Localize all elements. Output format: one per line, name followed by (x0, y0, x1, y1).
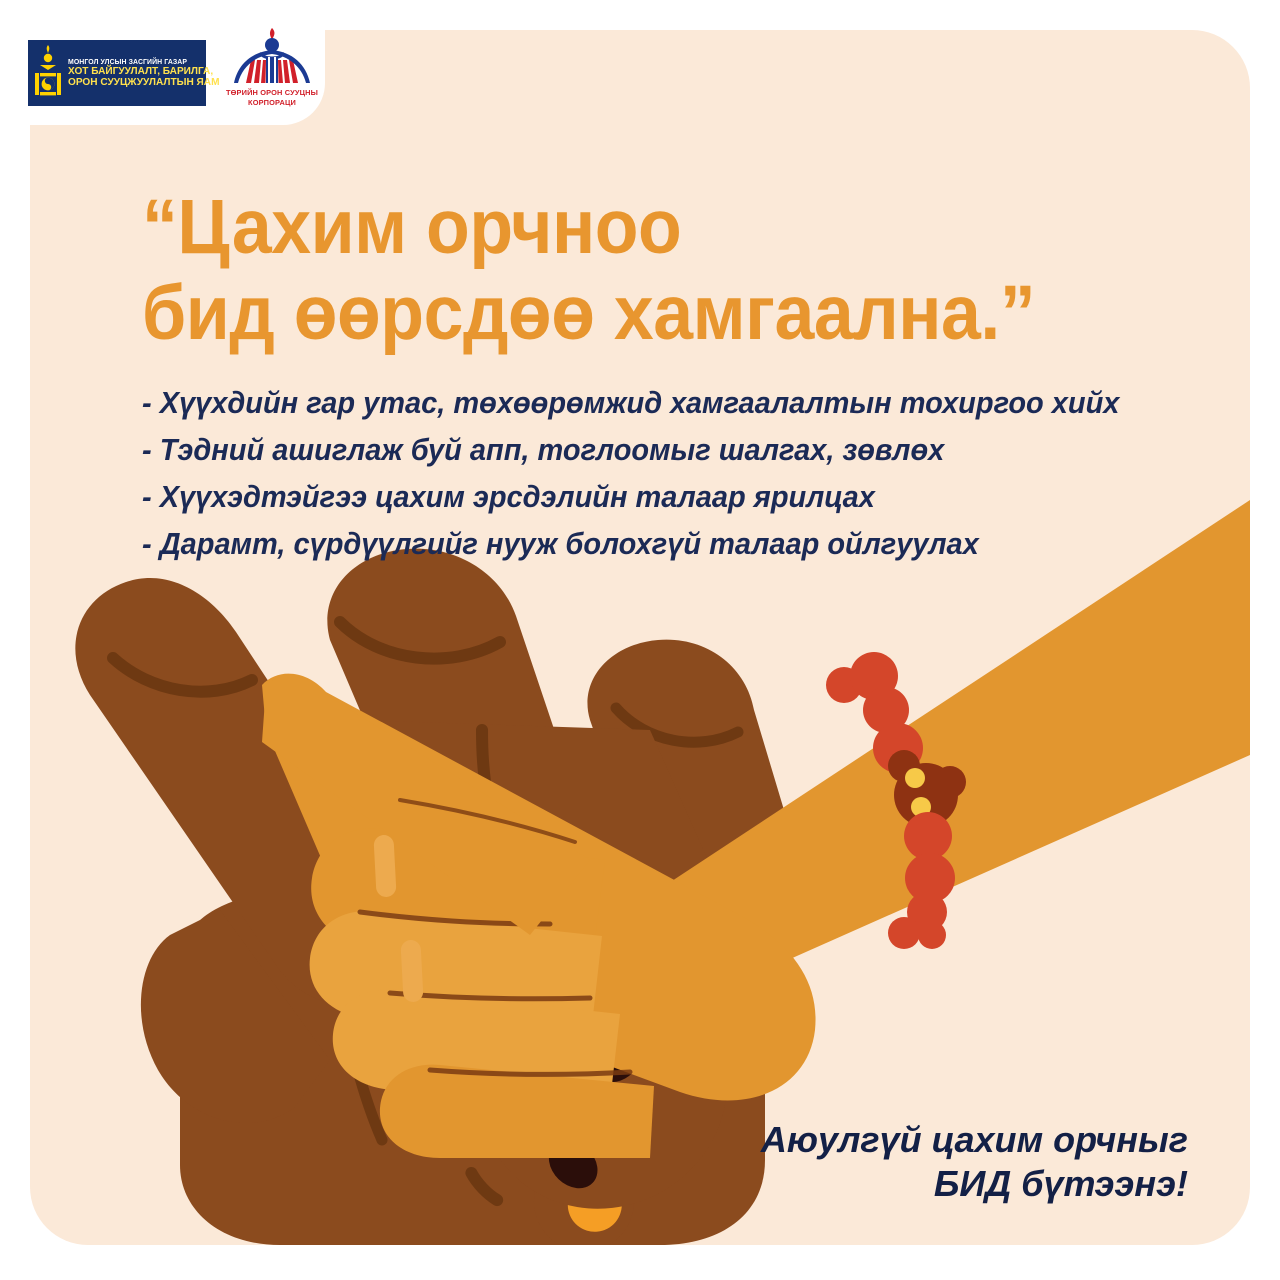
headline-line-2: бид өөрсдөө хамгаална.” (142, 274, 1128, 353)
ministry-logo-line-3: ОРОН СУУЦЖУУЛАЛТЫН ЯАМ (68, 78, 219, 89)
slogan-line-2: БИД бүтээнэ! (548, 1162, 1188, 1206)
bracelet-bead-8 (918, 921, 946, 949)
content-panel: “Цахим орчноо бид өөрсдөө хамгаална.” - … (30, 30, 1250, 1245)
knuckle-highlight-2 (400, 940, 423, 1003)
bracelet-bead-7 (888, 917, 920, 949)
list-item: - Хүүхдийн гар утас, төхөөрөмжид хамгаал… (142, 388, 1168, 419)
corp-logo-line-1: ТӨРИЙН ОРОН СУУЦНЫ (222, 88, 322, 98)
list-item: - Тэдний ашиглаж буй апп, тоглоомыг шалг… (142, 435, 1168, 466)
headline-line-1: “Цахим орчноо (142, 184, 681, 270)
slogan-line-1: Аюулгүй цахим орчныг (548, 1118, 1188, 1162)
bracelet-bead-4 (904, 812, 952, 860)
list-item: - Хүүхэдтэйгээ цахим эрсдэлийн талаар яр… (142, 482, 1168, 513)
charm-eye-1 (905, 768, 925, 788)
ministry-logo-line-1: МОНГОЛ УЛСЫН ЗАСГИЙН ГАЗАР (68, 58, 218, 65)
ger-flame-icon (222, 26, 322, 88)
logo-bar: МОНГОЛ УЛСЫН ЗАСГИЙН ГАЗАР ХОТ БАЙГУУЛАЛ… (0, 0, 330, 130)
state-housing-corporation-logo: ТӨРИЙН ОРОН СУУЦНЫ КОРПОРАЦИ (222, 26, 322, 122)
corp-logo-line-2: КОРПОРАЦИ (222, 98, 322, 108)
page-title: “Цахим орчноо бид өөрсдөө хамгаална.” (142, 188, 1128, 352)
list-item: - Дарамт, сүрдүүлгийг нууж болохгүй тала… (142, 529, 1168, 560)
poster-root: “Цахим орчноо бид өөрсдөө хамгаална.” - … (0, 0, 1280, 1280)
soyombo-icon (31, 42, 65, 104)
mongolia-ministry-logo: МОНГОЛ УЛСЫН ЗАСГИЙН ГАЗАР ХОТ БАЙГУУЛАЛ… (28, 40, 206, 106)
bullet-list: - Хүүхдийн гар утас, төхөөрөмжид хамгаал… (142, 388, 1222, 576)
knuckle-highlight-1 (373, 835, 396, 898)
closing-slogan: Аюулгүй цахим орчныг БИД бүтээнэ! (548, 1118, 1188, 1206)
